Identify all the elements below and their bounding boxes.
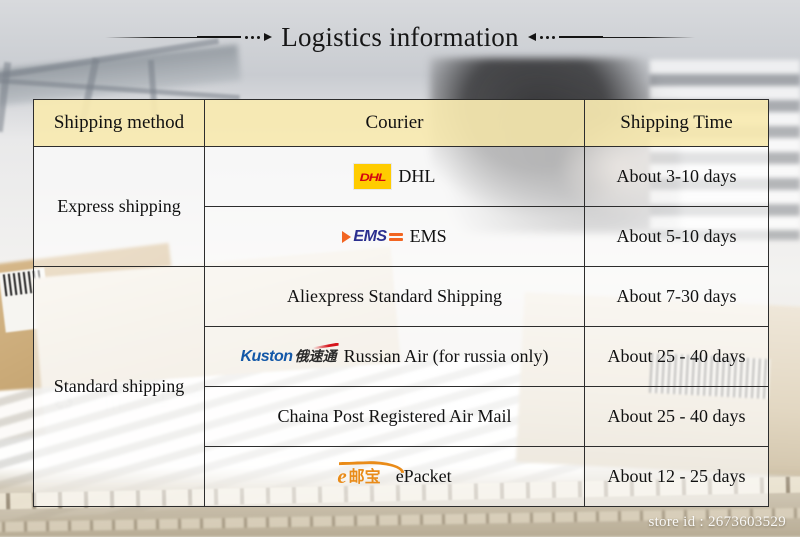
shipping-time-cell: About 3-10 days xyxy=(585,147,769,207)
courier-cell-dhl: DHL DHL xyxy=(205,147,585,207)
shipping-time-cell: About 25 - 40 days xyxy=(585,327,769,387)
ems-bars-icon xyxy=(389,231,403,243)
title-ornament-right xyxy=(528,33,695,41)
courier-label: Russian Air (for russia only) xyxy=(344,346,549,367)
courier-cell-ems: EMS EMS xyxy=(205,207,585,267)
kuston-logo-cn: 俄速通 xyxy=(295,350,337,364)
courier-label: Aliexpress Standard Shipping xyxy=(287,286,502,307)
store-id-watermark: store id : 2673603529 xyxy=(648,514,786,531)
header-shipping-method: Shipping method xyxy=(34,100,205,147)
kuston-logo: Kuston 俄速通 xyxy=(240,349,336,365)
table-row: Express shipping DHL DHL About 3-10 days xyxy=(34,147,769,207)
page-title: Logistics information xyxy=(272,22,527,53)
ems-chevron-icon xyxy=(342,231,351,243)
shipping-time-cell: About 5-10 days xyxy=(585,207,769,267)
epacket-swoosh-icon xyxy=(339,460,404,475)
shipping-time-cell: About 12 - 25 days xyxy=(585,447,769,507)
table-header-row: Shipping method Courier Shipping Time xyxy=(34,100,769,147)
dhl-logo: DHL xyxy=(354,164,392,189)
ems-logo: EMS xyxy=(342,229,402,245)
group-standard-shipping: Standard shipping xyxy=(34,267,205,507)
courier-cell-epacket: e 邮宝 ePacket xyxy=(205,447,585,507)
shipping-time-cell: About 7-30 days xyxy=(585,267,769,327)
shipping-time-cell: About 25 - 40 days xyxy=(585,387,769,447)
banner-title: Logistics information xyxy=(0,14,800,60)
courier-cell-russian-air: Kuston 俄速通 Russian Air (for russia only) xyxy=(205,327,585,387)
group-express-shipping: Express shipping xyxy=(34,147,205,267)
header-courier: Courier xyxy=(205,100,585,147)
epacket-logo: e 邮宝 xyxy=(337,466,388,487)
arrow-left-icon xyxy=(528,33,536,41)
courier-label: DHL xyxy=(398,166,435,187)
courier-cell-china-post: Chaina Post Registered Air Mail xyxy=(205,387,585,447)
logistics-information-banner: ♻ ||| ⏚ ☂ Logistics information xyxy=(0,0,800,537)
courier-label: EMS xyxy=(410,226,447,247)
arrow-right-icon xyxy=(264,33,272,41)
dhl-logo-text: DHL xyxy=(360,171,386,182)
ems-logo-text: EMS xyxy=(353,229,386,245)
kuston-logo-text: Kuston xyxy=(240,349,292,365)
logistics-table: Shipping method Courier Shipping Time Ex… xyxy=(33,99,769,507)
courier-cell-aliexpress: Aliexpress Standard Shipping xyxy=(205,267,585,327)
courier-label: ePacket xyxy=(396,466,452,487)
title-ornament-left xyxy=(105,33,272,41)
table-row: Standard shipping Aliexpress Standard Sh… xyxy=(34,267,769,327)
courier-label: Chaina Post Registered Air Mail xyxy=(278,406,512,427)
header-shipping-time: Shipping Time xyxy=(585,100,769,147)
